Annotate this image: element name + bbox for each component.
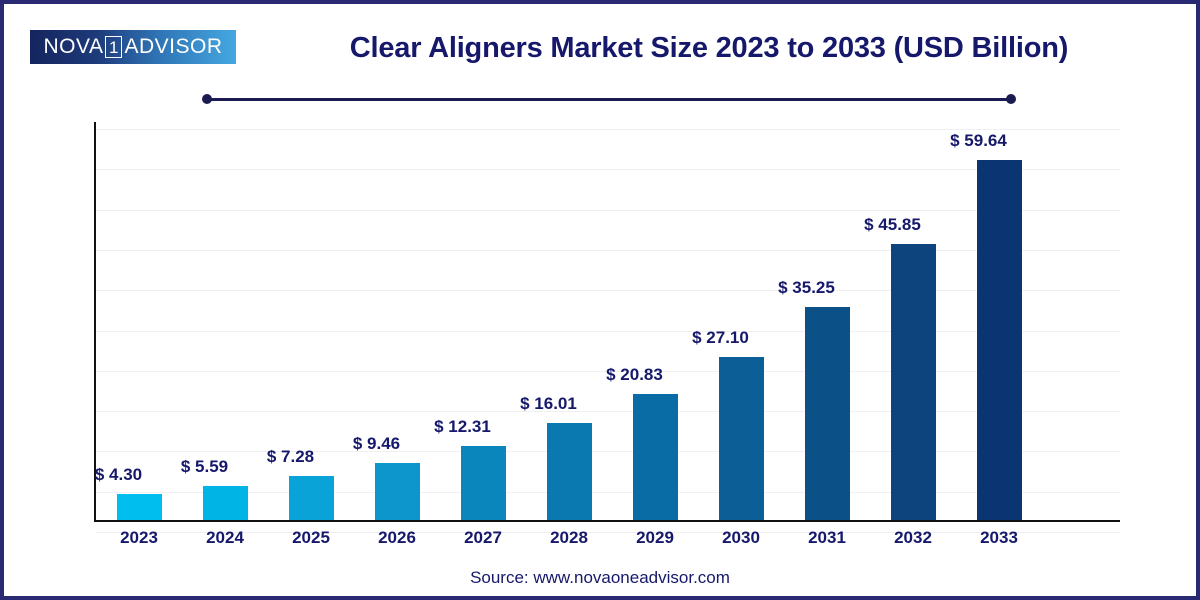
x-axis-tick-label: 2030 (698, 528, 784, 548)
bar-group[interactable]: $ 16.01 (526, 122, 612, 520)
x-axis-tick-labels: 2023202420252026202720282029203020312032… (96, 528, 1120, 554)
infographic-canvas: NOVA1ADVISOR Clear Aligners Market Size … (0, 0, 1200, 600)
bar[interactable] (805, 307, 850, 520)
source-caption: Source: www.novaoneadvisor.com (4, 568, 1196, 588)
bar[interactable] (891, 244, 936, 520)
page-title: Clear Aligners Market Size 2023 to 2033 … (254, 32, 1164, 65)
bar[interactable] (375, 463, 420, 520)
bar[interactable] (633, 394, 678, 520)
bar[interactable] (547, 423, 592, 520)
bar-group[interactable]: $ 7.28 (268, 122, 354, 520)
bar-group[interactable]: $ 12.31 (440, 122, 526, 520)
x-axis-tick-label: 2024 (182, 528, 268, 548)
bar-value-label: $ 7.28 (246, 447, 335, 467)
bar-group[interactable]: $ 59.64 (956, 122, 1042, 520)
x-axis-line (94, 520, 1120, 522)
x-axis-tick-label: 2028 (526, 528, 612, 548)
bar-value-label: $ 20.83 (590, 365, 679, 385)
title-divider (202, 94, 1016, 104)
bar[interactable] (461, 446, 506, 520)
logo-text-part2: ADVISOR (124, 35, 222, 59)
bar[interactable] (289, 476, 334, 520)
bar-value-label: $ 9.46 (332, 434, 421, 454)
bar-value-label: $ 5.59 (160, 457, 249, 477)
logo-text: NOVA1ADVISOR (44, 35, 223, 59)
bar-group[interactable]: $ 20.83 (612, 122, 698, 520)
bar-value-label: $ 16.01 (504, 394, 593, 414)
x-axis-tick-label: 2031 (784, 528, 870, 548)
bar-value-label: $ 35.25 (762, 278, 851, 298)
x-axis-tick-label: 2023 (96, 528, 182, 548)
logo-text-part1: NOVA (44, 35, 104, 59)
x-axis-tick-label: 2027 (440, 528, 526, 548)
x-axis-tick-label: 2025 (268, 528, 354, 548)
logo-boxed-one: 1 (105, 36, 122, 58)
bar-group[interactable]: $ 45.85 (870, 122, 956, 520)
bar[interactable] (203, 486, 248, 520)
chart-plot-area: $ 4.30$ 5.59$ 7.28$ 9.46$ 12.31$ 16.01$ … (94, 122, 1120, 522)
bar-value-label: $ 12.31 (418, 417, 507, 437)
bar-group[interactable]: $ 35.25 (784, 122, 870, 520)
nova-one-advisor-logo: NOVA1ADVISOR (30, 30, 236, 64)
x-axis-tick-label: 2029 (612, 528, 698, 548)
bar[interactable] (977, 160, 1022, 520)
bar[interactable] (117, 494, 162, 520)
divider-dot-right (1006, 94, 1016, 104)
x-axis-tick-label: 2033 (956, 528, 1042, 548)
bar-value-label: $ 27.10 (676, 328, 765, 348)
bar[interactable] (719, 357, 764, 520)
divider-line (207, 98, 1011, 101)
x-axis-tick-label: 2026 (354, 528, 440, 548)
bar-series: $ 4.30$ 5.59$ 7.28$ 9.46$ 12.31$ 16.01$ … (96, 122, 1120, 520)
bar-group[interactable]: $ 9.46 (354, 122, 440, 520)
bar-value-label: $ 59.64 (934, 131, 1023, 151)
bar-value-label: $ 4.30 (74, 465, 163, 485)
bar-group[interactable]: $ 27.10 (698, 122, 784, 520)
x-axis-tick-label: 2032 (870, 528, 956, 548)
bar-value-label: $ 45.85 (848, 215, 937, 235)
